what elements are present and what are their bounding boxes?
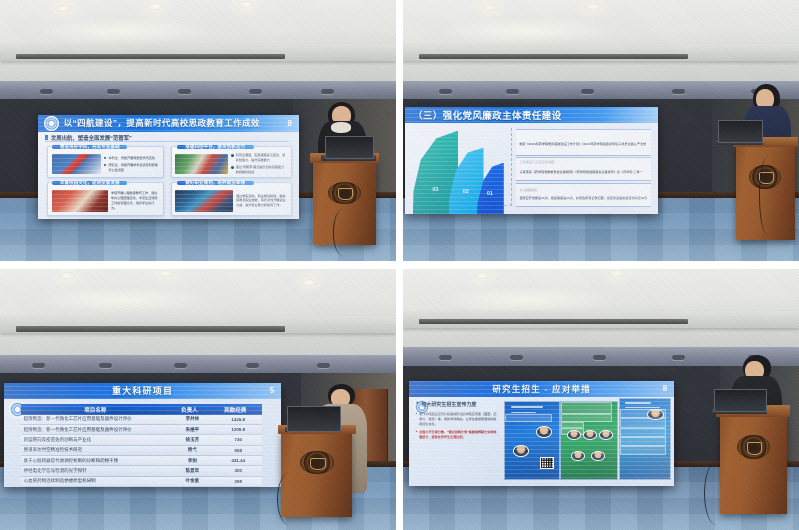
ceiling-speaker-icon <box>593 355 606 360</box>
bullet-dot-icon <box>104 164 106 166</box>
ceiling-glow <box>435 18 617 44</box>
headshot-avatar <box>513 445 529 457</box>
lecture-hall-scene: （三）强化党风廉政主体责任建设 03 02 01 制定《2023年药学院党风廉政… <box>403 0 799 261</box>
card-photo <box>52 154 100 175</box>
card-bullet: 本科生：持续开展两类型学风活动 <box>104 156 159 161</box>
ceiling-speaker-icon <box>107 89 120 94</box>
photo-top-left: 以“四航建设”，提高新时代高校思政教育工作成效 8 发展出航，塑造全面发展“范普… <box>0 0 396 261</box>
card-bullets: 科普点课题、实践课题多元结合，培养创造力，提升实践能力 通过“传帮带”模式提升创… <box>231 153 287 175</box>
table-header-row: 项目名称 负责人 到款经费 <box>21 404 262 414</box>
cell-funding: 730 <box>212 437 265 442</box>
ceiling-speaker-icon <box>506 89 519 94</box>
card-bullet-text: 学院开展心理健康教育工作，通过举办心理团辅活动，丰富生活润滑工作的管理方式，培养… <box>111 191 159 210</box>
cell-project-name: 肠道表达时空精准检技术研究 <box>21 447 174 453</box>
poster-line <box>511 412 535 414</box>
slide-title-text: 研究生招生 - 应对举措 <box>492 383 590 395</box>
projection-screen: （三）强化党风廉政主体责任建设 03 02 01 制定《2023年药学院党风廉政… <box>405 107 658 214</box>
cell-project-name: 超限制造：新一代微化工芯片应用基础及器件设计评价 <box>21 416 174 422</box>
card-bullet-text: 通过“传帮带”模式提升创新实践能力的持续化建设 <box>236 165 288 175</box>
laptop-screen <box>287 406 340 431</box>
cell-project-name: 神经电化学信号检测的光学探针 <box>21 468 174 474</box>
photo-bottom-right: 研究生招生 - 应对举措 8 ➤ 加大研究生招生宣传力度 • 制作学院招生宣传片… <box>403 269 799 530</box>
cell-funding: 1326.8 <box>212 417 265 422</box>
card-photo <box>175 190 232 212</box>
laptop-screen <box>714 389 767 412</box>
slide-card-caption: 做好职业规划，培养就业本领 <box>177 181 254 185</box>
poster-line <box>511 406 543 408</box>
card-bullets: 通过求职活动、职业规划指导、模拟招聘及职业技能，有针对性开展就业公益，提升就业能… <box>236 188 287 213</box>
chevron-right-icon: ➤ <box>416 401 420 408</box>
bullet-dash-icon: • <box>416 430 418 440</box>
card-bullet-text: 通过求职活动、职业规划指导、模拟招聘及职业技能，有针对性开展就业公益，提升就业能… <box>236 194 287 208</box>
qr-code-icon <box>540 457 554 470</box>
slide-title-bar: 重大科研项目 <box>4 383 281 400</box>
slide-card-caption: 丰富校园文化，促进全面发展 <box>52 181 127 185</box>
downlight-icon <box>59 272 75 279</box>
podium-emblem-icon <box>328 182 361 204</box>
ceiling-speaker-icon <box>246 363 259 368</box>
bullet-dot-icon <box>104 157 106 159</box>
slide-canvas: 以“四航建设”，提高新时代高校思政教育工作成效 8 发展出航，塑造全面发展“范普… <box>38 115 299 219</box>
cell-funding: 268 <box>212 479 265 484</box>
card-bullet: 科普点课题、实践课题多元结合，培养创造力，提升实践能力 <box>231 153 287 163</box>
slide-canvas: 研究生招生 - 应对举措 8 ➤ 加大研究生招生宣传力度 • 制作学院招生宣传片… <box>409 381 674 485</box>
slide-card-caption: 搭建科创平台，激发创新活力 <box>177 145 254 149</box>
card-bullet: 通过“传帮带”模式提升创新实践能力的持续化建设 <box>231 165 287 175</box>
cable <box>333 209 354 256</box>
bullet-dash-icon: • <box>416 412 418 426</box>
downlight-icon <box>482 4 498 11</box>
ceiling-speaker-icon <box>672 355 685 360</box>
slide-card: 做好职业规划，培养就业本领 通过求职活动、职业规划指导、模拟招聘及职业技能，有针… <box>171 182 292 216</box>
slide-title-bar: （三）强化党风廉政主体责任建设 <box>405 107 658 123</box>
scarf <box>331 122 351 132</box>
cell-funding: 431.44 <box>212 458 265 463</box>
headshot-avatar <box>536 426 552 438</box>
university-emblem-icon <box>44 116 59 131</box>
projection-screen: 重大科研项目 5 项目名称 负责人 到款经费 超限制造：新一代微化工芯片应用基础… <box>4 383 281 487</box>
slide-card: 搭建科创平台，激发创新活力 科普点课题、实践课题多元结合，培养创造力，提升实践能… <box>171 146 292 178</box>
research-projects-table: 项目名称 负责人 到款经费 超限制造：新一代微化工芯片应用基础及器件设计评价 李… <box>21 404 262 480</box>
slide-bullet-text-highlight: 全国大开生源分散，“错过创新计划”高度培养硕士中的关键部分，提高优秀学生生源比例… <box>419 430 498 440</box>
ceiling-rail <box>16 326 285 331</box>
ceiling-speaker-icon <box>321 89 334 94</box>
lecture-hall-scene: 研究生招生 - 应对举措 8 ➤ 加大研究生招生宣传力度 • 制作学院招生宣传片… <box>403 269 799 530</box>
poster-block <box>561 414 612 421</box>
projection-screen: 以“四航建设”，提高新时代高校思政教育工作成效 8 发展出航，塑造全面发展“范普… <box>38 115 299 219</box>
slide-title-bar: 研究生招生 - 应对举措 <box>409 381 674 397</box>
sail-label: 03 <box>432 187 438 193</box>
cable <box>277 473 302 525</box>
slide-bullet: ➤ 加大研究生招生宣传力度 <box>416 401 498 408</box>
cell-leader: 朱维平 <box>173 427 212 433</box>
slide-title-text: （三）强化党风廉政主体责任建设 <box>413 108 562 122</box>
table-row: 超限制造：新一代微化工芯片应用基础及器件设计评价 李井林 1326.8 <box>21 415 262 425</box>
table-row: 新型靶向及疫苗佐剂创制与产业化 徐玉芳 730 <box>21 435 262 445</box>
cell-project-name: 基于心脏跨器官代谢调控机制的诊断和药物干预 <box>21 458 174 464</box>
ceiling-speaker-icon <box>581 89 594 94</box>
slide-bullet-heading: 加大研究生招生宣传力度 <box>421 401 476 408</box>
cell-leader: 杨弋 <box>173 447 212 453</box>
ceiling-rail <box>16 54 285 59</box>
slide-canvas: （三）强化党风廉政主体责任建设 03 02 01 制定《2023年药学院党风廉政… <box>405 107 658 214</box>
card-bullet: 学院开展心理健康教育工作，通过举办心理团辅活动，丰富生活润滑工作的管理方式，培养… <box>111 191 159 210</box>
table-row: 超限制造：新一代微化工芯片应用基础及器件设计评价 朱维平 1206.8 <box>21 425 262 435</box>
ceiling-glow <box>32 18 214 44</box>
poster-block <box>620 446 666 455</box>
photo-top-right: （三）强化党风廉政主体责任建设 03 02 01 制定《2023年药学院党风廉政… <box>403 0 799 261</box>
table-row: 神经电化学信号检测的光学探针 陈显军 300 <box>21 466 262 476</box>
downlight-icon <box>474 272 490 279</box>
upper-wall-band <box>0 81 396 99</box>
slide-title-text: 以“四航建设”，提高新时代高校思政教育工作成效 <box>64 117 260 129</box>
column-header-leader: 负责人 <box>170 406 209 414</box>
poster-block <box>561 422 584 429</box>
poster-block <box>620 437 666 446</box>
slide-bullet-column: ➤ 加大研究生招生宣传力度 • 制作学院招生宣传片和各种形式的学院宣传册（图册、… <box>416 401 498 479</box>
ceiling-glow <box>32 287 214 313</box>
ceiling-speaker-icon <box>249 89 262 94</box>
slide-subtitle-text: 发展出航，塑造全面发展“范普军” <box>51 134 132 142</box>
slide-card: 营造良好学风，夯实专业基础 本科生：持续开展两类型学风活动 研究生：持续开展学术… <box>47 146 164 178</box>
ceiling-glow <box>435 287 617 313</box>
bullet-dot-icon <box>231 154 233 156</box>
poster-block <box>505 414 552 422</box>
slide-bullet: • 制作学院招生宣传片和各种形式的学院宣传册（图册、纪录片、微页）等，更新学科网… <box>416 412 498 426</box>
table-row: 基于心脏跨器官代谢调控机制的诊断和药物干预 李剑 431.44 <box>21 456 262 466</box>
slide-text-block: 倍增召开党委会16次、党政联席会21次，并修改所有记录纪要，拟定修改各类留置材料… <box>516 183 650 207</box>
ceiling-rail <box>419 54 688 59</box>
bullet-dot-icon <box>231 166 233 168</box>
headshot-avatar <box>571 451 585 462</box>
cell-leader: 李井林 <box>173 416 212 422</box>
slide-title-bar: 以“四航建设”，提高新时代高校思政教育工作成效 8 <box>38 115 299 132</box>
slide-card-caption: 营造良好学风，夯实专业基础 <box>52 145 127 149</box>
card-bullet: 通过求职活动、职业规划指导、模拟招聘及职业技能，有针对性开展就业公益，提升就业能… <box>236 194 287 208</box>
poster-block <box>620 418 666 427</box>
slide-text: 倍增召开党委会16次、党政联席会21次，并修改所有记录纪要，拟定修改各类留置材料… <box>519 196 647 200</box>
card-photo <box>175 154 227 175</box>
cable <box>704 462 729 525</box>
downlight-icon <box>147 3 163 10</box>
card-bullet-text: 科普点课题、实践课题多元结合，培养创造力，提升实践能力 <box>236 153 288 163</box>
headshot-avatar <box>599 430 613 441</box>
lecture-hall-scene: 重大科研项目 5 项目名称 负责人 到款经费 超限制造：新一代微化工芯片应用基础… <box>0 269 396 530</box>
ceiling-speaker-icon <box>178 89 191 94</box>
slide-bullet-text: 制作学院招生宣传片和各种形式的学院宣传册（图册、纪录片、微页）等，更新学科网站，… <box>419 412 498 426</box>
laptop-screen <box>718 120 764 143</box>
ceiling-speaker-icon <box>672 89 685 94</box>
card-bullets: 本科生：持续开展两类型学风活动 研究生：持续开展学术道德及科研素养公益讲座 <box>104 153 159 175</box>
photo-bottom-left: 重大科研项目 5 项目名称 负责人 到款经费 超限制造：新一代微化工芯片应用基础… <box>0 269 396 530</box>
sail-label: 01 <box>487 191 493 197</box>
headshot-avatar <box>567 430 581 441</box>
slide-subtitle: 发展出航，塑造全面发展“范普军” <box>45 134 288 142</box>
column-header-project-name: 项目名称 <box>21 406 171 414</box>
table-row: 心血管药物连续制造便捷原型机研制 叶金星 268 <box>21 477 262 487</box>
slide-text-block: 认真落实《药学院党委委员会议事规则》《药学院党政联席会议事规则》和《药学院“三重… <box>516 157 650 181</box>
ceiling-speaker-icon <box>439 355 452 360</box>
cell-leader: 李剑 <box>173 458 212 464</box>
ceiling-speaker-icon <box>174 363 187 368</box>
projection-screen: 研究生招生 - 应对举措 8 ➤ 加大研究生招生宣传力度 • 制作学院招生宣传片… <box>409 381 674 485</box>
cell-project-name: 心血管药物连续制造便捷原型机研制 <box>21 478 174 484</box>
lecture-hall-scene: 以“四航建设”，提高新时代高校思政教育工作成效 8 发展出航，塑造全面发展“范普… <box>0 0 396 261</box>
poster-blue <box>504 401 559 480</box>
ceiling-speaker-icon <box>40 89 53 94</box>
cell-project-name: 超限制造：新一代微化工芯片应用基础及器件设计评价 <box>21 427 174 433</box>
slide-canvas: 重大科研项目 5 项目名称 负责人 到款经费 超限制造：新一代微化工芯片应用基础… <box>4 383 281 487</box>
ceiling-speaker-icon <box>439 89 452 94</box>
card-bullet-text: 本科生：持续开展两类型学风活动 <box>108 156 154 161</box>
cell-leader: 徐玉芳 <box>173 437 212 443</box>
slide-card: 丰富校园文化，促进全面发展 学院开展心理健康教育工作，通过举办心理团辅活动，丰富… <box>47 182 164 216</box>
slide-text-block: 制定《2023年药学院党风廉政建设工作计划》《2023年药学院班政领导班子成员全… <box>516 129 650 155</box>
table-row: 肠道表达时空精准检技术研究 杨弋 558 <box>21 446 262 456</box>
ceiling-speaker-icon <box>317 363 330 368</box>
poster-line <box>625 402 651 404</box>
slide-page-number: 5 <box>270 386 274 395</box>
ceiling-speaker-icon <box>32 363 45 368</box>
cell-leader: 陈显军 <box>173 468 212 474</box>
subtitle-accent-bar <box>45 135 47 140</box>
card-bullets: 学院开展心理健康教育工作，通过举办心理团辅活动，丰富生活润滑工作的管理方式，培养… <box>111 188 159 213</box>
headshot-avatar <box>583 430 597 441</box>
photo-collage-grid: 以“四航建设”，提高新时代高校思政教育工作成效 8 发展出航，塑造全面发展“范普… <box>0 0 799 530</box>
slide-bullet: • 全国大开生源分散，“错过创新计划”高度培养硕士中的关键部分，提高优秀学生生源… <box>416 430 498 440</box>
cell-leader: 叶金星 <box>173 478 212 484</box>
cell-project-name: 新型靶向及疫苗佐剂创制与产业化 <box>21 437 174 443</box>
cell-funding: 1206.8 <box>212 427 265 432</box>
ceiling-speaker-icon <box>99 363 112 368</box>
cell-funding: 300 <box>212 468 265 473</box>
poster-block <box>561 402 612 414</box>
slide-page-number: 8 <box>288 119 292 128</box>
ceiling-rail <box>419 319 688 324</box>
poster-cyan <box>619 398 671 480</box>
poster-green <box>560 401 618 480</box>
card-bullet: 研究生：持续开展学术道德及科研素养公益讲座 <box>104 163 159 173</box>
headshot-avatar <box>591 451 605 462</box>
podium-emblem-icon <box>300 451 334 473</box>
card-bullet-text: 研究生：持续开展学术道德及科研素养公益讲座 <box>108 163 159 173</box>
laptop-screen <box>325 136 375 159</box>
podium-emblem-icon <box>737 435 771 459</box>
sail-label: 02 <box>463 189 469 195</box>
poster-block <box>620 428 666 437</box>
ceiling-speaker-icon <box>510 355 523 360</box>
column-header-funding: 到款经费 <box>209 406 262 414</box>
slide-page-number: 8 <box>663 384 667 393</box>
poster-line <box>625 407 660 409</box>
card-photo <box>52 190 107 212</box>
upper-wall-band <box>0 355 396 373</box>
slide-title-text: 重大科研项目 <box>112 384 173 397</box>
downlight-icon <box>585 3 601 10</box>
cell-funding: 558 <box>212 448 265 453</box>
podium <box>720 413 787 515</box>
